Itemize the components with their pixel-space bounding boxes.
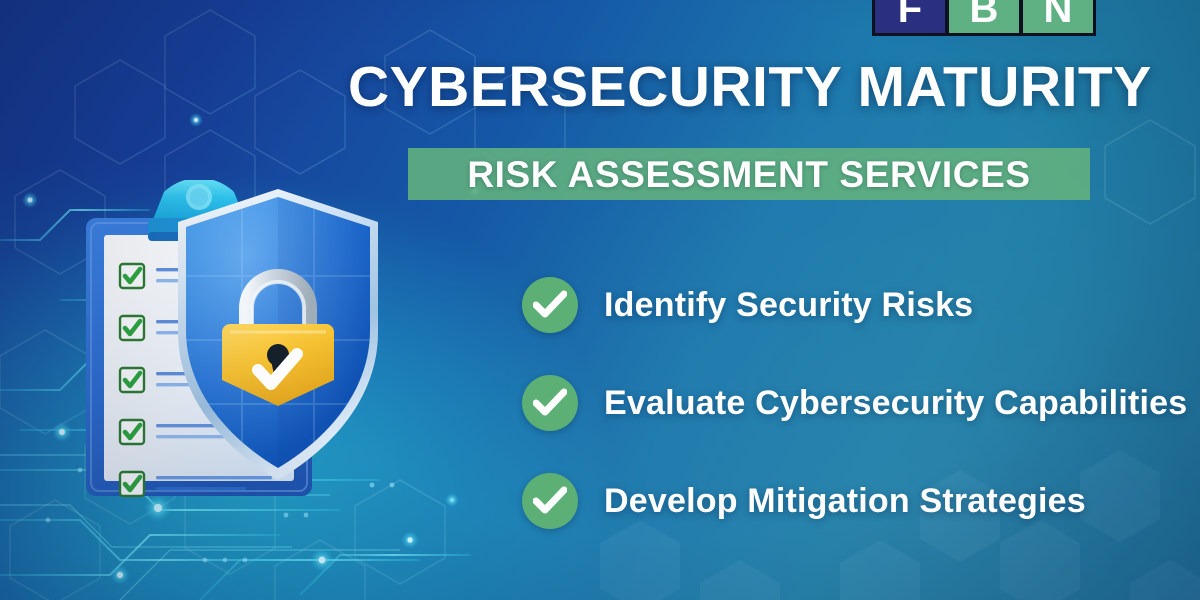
list-item: Evaluate Cybersecurity Capabilities <box>522 370 1200 436</box>
logo-block-b: B <box>949 0 1019 33</box>
logo-block-n: N <box>1023 0 1093 33</box>
cybersecurity-promo-banner: F B N CYBERSECURITY MATURITY RISK ASSESS… <box>0 0 1200 600</box>
logo-block-f: F <box>875 0 945 33</box>
page-title: CYBERSECURITY MATURITY <box>348 55 1158 119</box>
check-icon <box>522 277 578 333</box>
brand-logo[interactable]: F B N <box>872 0 1096 36</box>
clipboard-shield-lock-illustration <box>60 180 480 550</box>
check-icon <box>522 375 578 431</box>
list-item-label: Identify Security Risks <box>604 286 973 325</box>
subtitle-banner: RISK ASSESSMENT SERVICES <box>408 148 1090 200</box>
check-icon <box>522 473 578 529</box>
list-item: Identify Security Risks <box>522 272 1200 338</box>
list-item-label: Develop Mitigation Strategies <box>604 482 1086 521</box>
feature-list: Identify Security Risks Evaluate Cyberse… <box>522 272 1200 566</box>
subtitle-text: RISK ASSESSMENT SERVICES <box>467 156 1030 193</box>
list-item-label: Evaluate Cybersecurity Capabilities <box>604 384 1187 423</box>
list-item: Develop Mitigation Strategies <box>522 468 1200 534</box>
